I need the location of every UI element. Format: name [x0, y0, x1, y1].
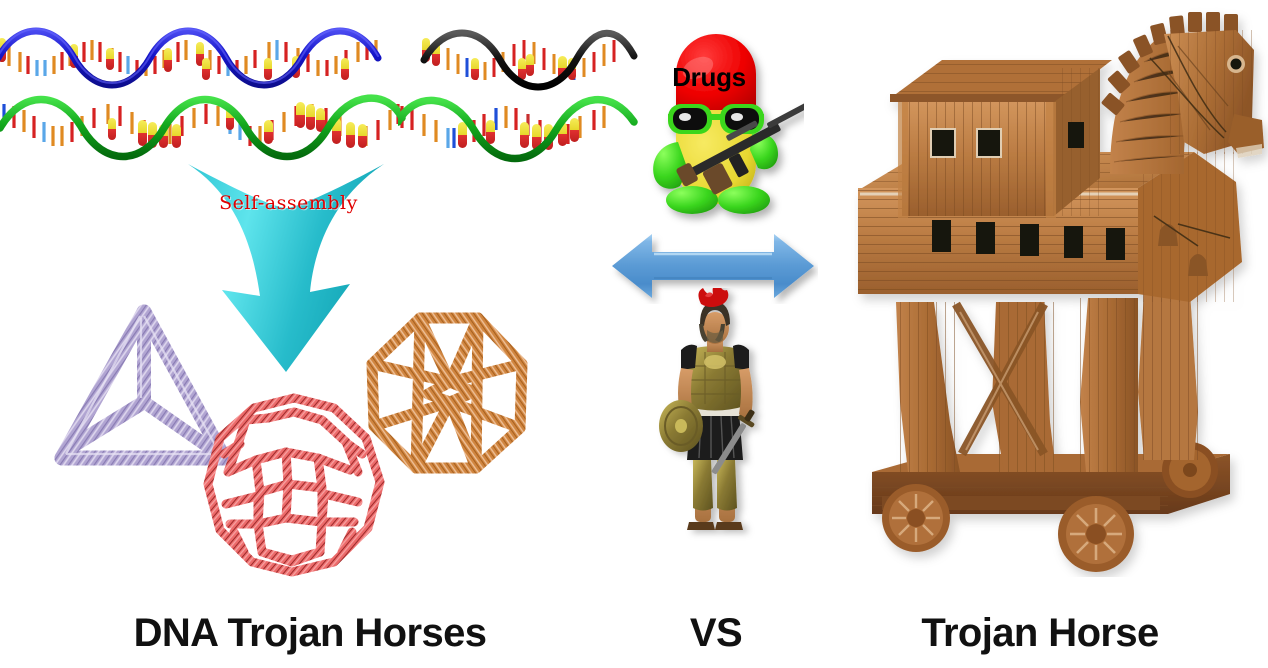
caption-trojan-horse: Trojan Horse: [812, 611, 1268, 656]
wooden-trojan-horse: [838, 2, 1268, 577]
drugs-capsule-character: [634, 22, 804, 227]
self-assembly-label: Self-assembly: [196, 192, 381, 214]
drugs-label: Drugs: [634, 62, 784, 93]
caption-dna-trojan-horses: DNA Trojan Horses: [0, 611, 620, 656]
dna-strand-green-top: [0, 84, 406, 164]
dna-polyhedron-cage: [358, 306, 538, 487]
caption-vs: VS: [620, 611, 812, 656]
dna-strand-black: [408, 20, 648, 95]
figure-canvas: Self-assembly: [0, 0, 1268, 668]
trojan-greek-soldier: [655, 288, 775, 556]
dna-strand-green-bottom: [398, 86, 648, 164]
